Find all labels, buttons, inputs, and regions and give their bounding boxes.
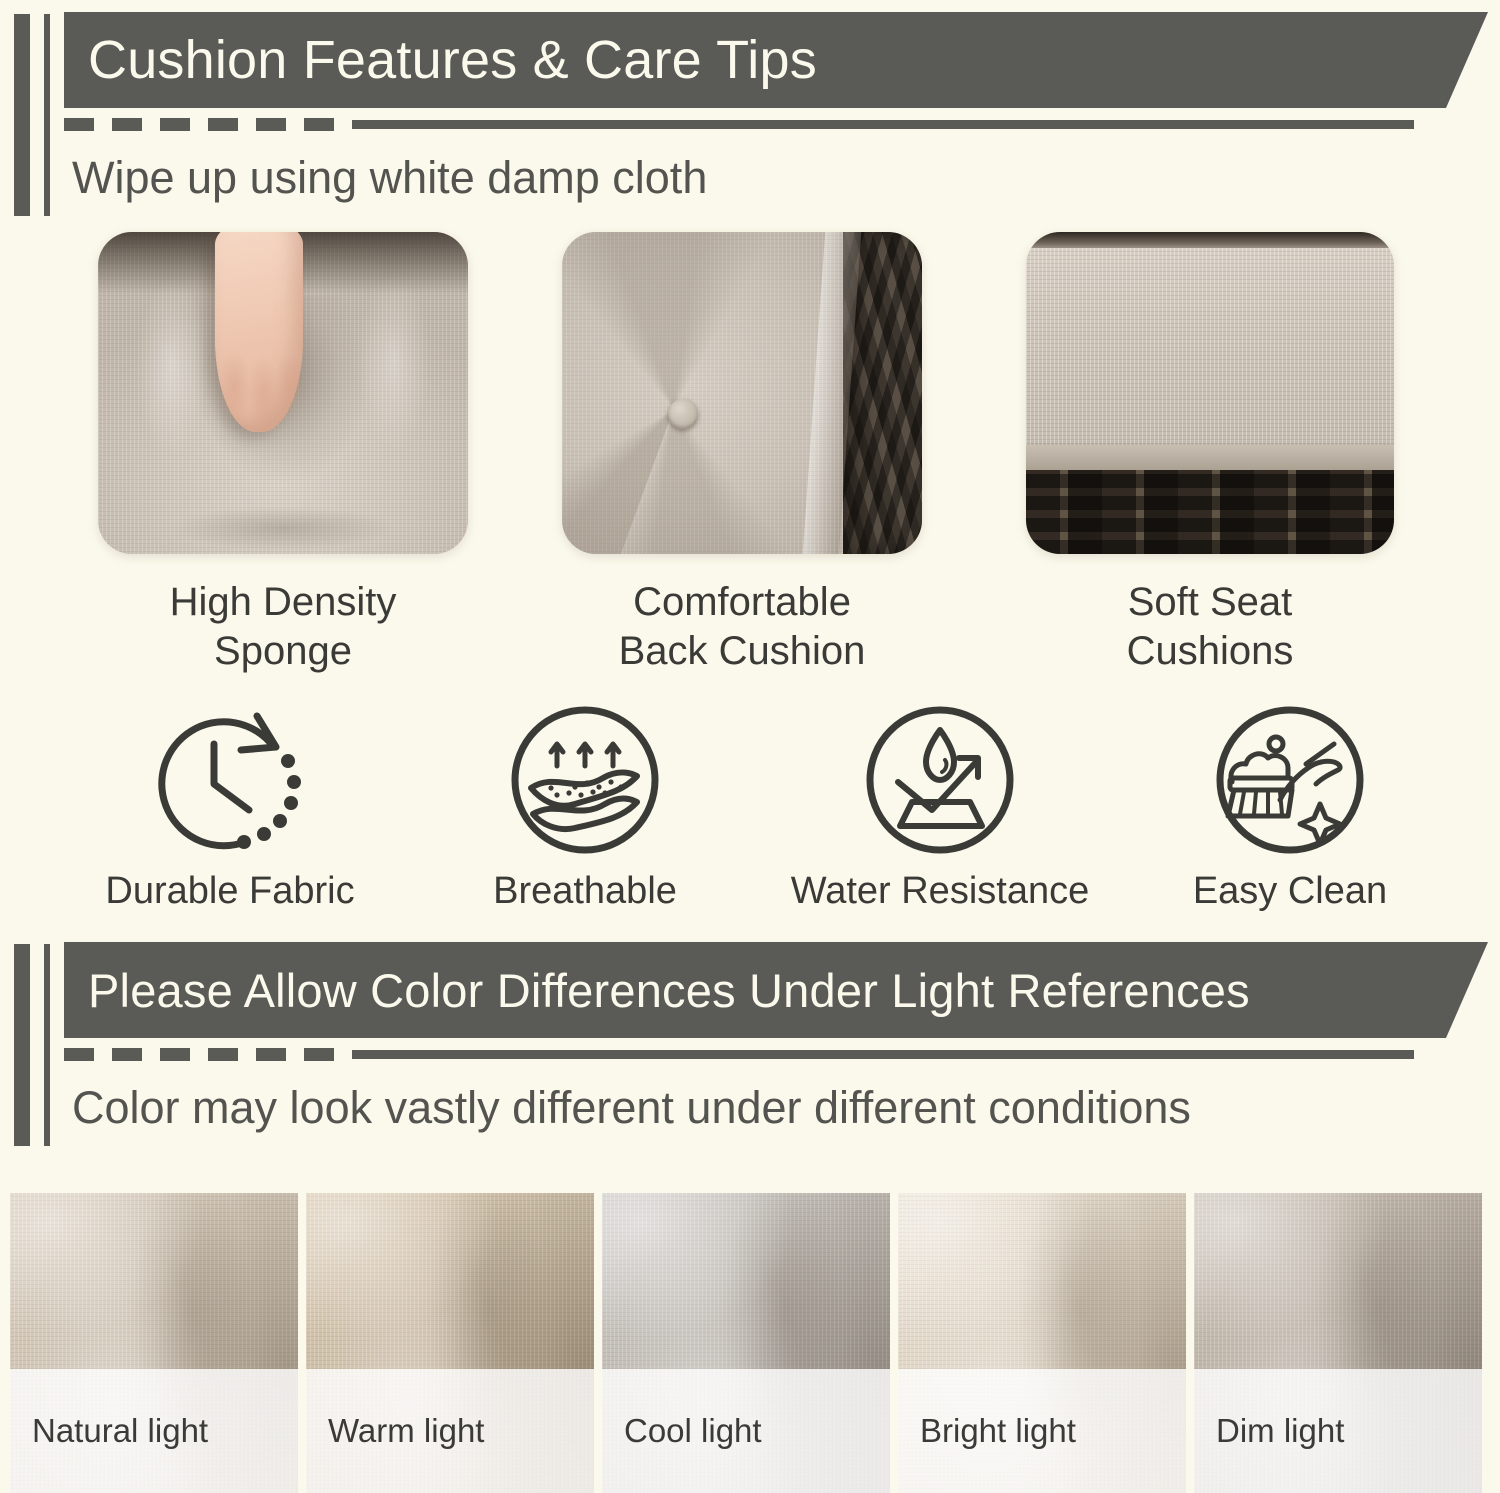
divider-dash [304, 118, 334, 131]
divider-solid-line [352, 120, 1414, 129]
swatch-label: Dim light [1194, 1412, 1344, 1450]
caption-line-2: Back Cushion [562, 627, 922, 676]
photo-caption-comfortable-back-cushion: Comfortable Back Cushion [562, 578, 922, 676]
swatch-dim-light: Dim light [1194, 1193, 1482, 1493]
hand-pressing-cushion [215, 232, 304, 432]
caption-line-1: High Density [98, 578, 468, 627]
caption-line-1: Comfortable [562, 578, 922, 627]
swatch-label-band: Natural light [10, 1369, 298, 1493]
swatch-label-band: Dim light [1194, 1369, 1482, 1493]
caption-line-2: Sponge [98, 627, 468, 676]
feature-label: Water Resistance [790, 870, 1090, 913]
photo-soft-seat-cushions [1026, 232, 1394, 554]
swatch-cool-light: Cool light [602, 1193, 890, 1493]
swatch-label: Bright light [898, 1412, 1076, 1450]
divider-dash [160, 118, 190, 131]
feature-durable-fabric: Durable Fabric [80, 700, 380, 913]
banner-divider [64, 118, 1414, 131]
feature-easy-clean: Easy Clean [1150, 700, 1430, 913]
caption-line-2: Cushions [1026, 627, 1394, 676]
banner-divider [64, 1048, 1414, 1061]
feature-label: Durable Fabric [80, 870, 380, 913]
swatch-warm-light: Warm light [306, 1193, 594, 1493]
divider-dash [112, 118, 142, 131]
swatch-bright-light: Bright light [898, 1193, 1186, 1493]
water-droplet-repel-icon [860, 700, 1020, 860]
divider-dash [256, 1048, 286, 1061]
feature-label: Breathable [445, 870, 725, 913]
divider-dash [304, 1048, 334, 1061]
infographic-page: Cushion Features & Care Tips Wipe up usi… [0, 0, 1500, 1493]
swatch-natural-light: Natural light [10, 1193, 298, 1493]
swatch-label: Cool light [602, 1412, 762, 1450]
divider-dash [256, 118, 286, 131]
photo-card-high-density-sponge [98, 232, 468, 554]
left-rail-thin [44, 14, 50, 216]
divider-dash [112, 1048, 142, 1061]
photo-card-soft-seat-cushions [1026, 232, 1394, 554]
photo-card-comfortable-back-cushion [562, 232, 922, 554]
swatch-label: Warm light [306, 1412, 484, 1450]
feature-label: Easy Clean [1150, 870, 1430, 913]
brush-cleaning-icon [1210, 700, 1370, 860]
left-rail-thick [14, 944, 30, 1146]
section-subtitle: Color may look vastly different under di… [72, 1082, 1191, 1134]
feature-photo-row: High Density Sponge Comfortable Back Cus… [0, 232, 1500, 572]
divider-dash [64, 1048, 94, 1061]
swatch-label-band: Warm light [306, 1369, 594, 1493]
divider-dash [208, 118, 238, 131]
divider-solid-line [352, 1050, 1414, 1059]
breathable-layers-icon [505, 700, 665, 860]
photo-caption-high-density-sponge: High Density Sponge [98, 578, 468, 676]
feature-breathable: Breathable [445, 700, 725, 913]
section-title: Cushion Features & Care Tips [64, 29, 817, 91]
feature-water-resistance: Water Resistance [790, 700, 1090, 913]
section-subtitle: Wipe up using white damp cloth [72, 152, 707, 204]
divider-dash [208, 1048, 238, 1061]
section-banner: Cushion Features & Care Tips [64, 12, 1488, 108]
swatch-label-band: Cool light [602, 1369, 890, 1493]
left-rail-thick [14, 14, 30, 216]
swatch-label: Natural light [10, 1412, 208, 1450]
left-rail-thin [44, 944, 50, 1146]
clock-arrow-icon [145, 700, 315, 860]
photo-high-density-sponge [98, 232, 468, 554]
light-reference-swatch-row: Natural light Warm light Cool light Br [0, 1193, 1500, 1493]
divider-dash [64, 118, 94, 131]
photo-back-cushion [562, 232, 922, 554]
section-title: Please Allow Color Differences Under Lig… [64, 963, 1250, 1018]
caption-line-1: Soft Seat [1026, 578, 1394, 627]
divider-dash [160, 1048, 190, 1061]
wicker-base [1026, 470, 1394, 554]
photo-caption-soft-seat-cushions: Soft Seat Cushions [1026, 578, 1394, 676]
section-banner: Please Allow Color Differences Under Lig… [64, 942, 1488, 1038]
swatch-label-band: Bright light [898, 1369, 1186, 1493]
